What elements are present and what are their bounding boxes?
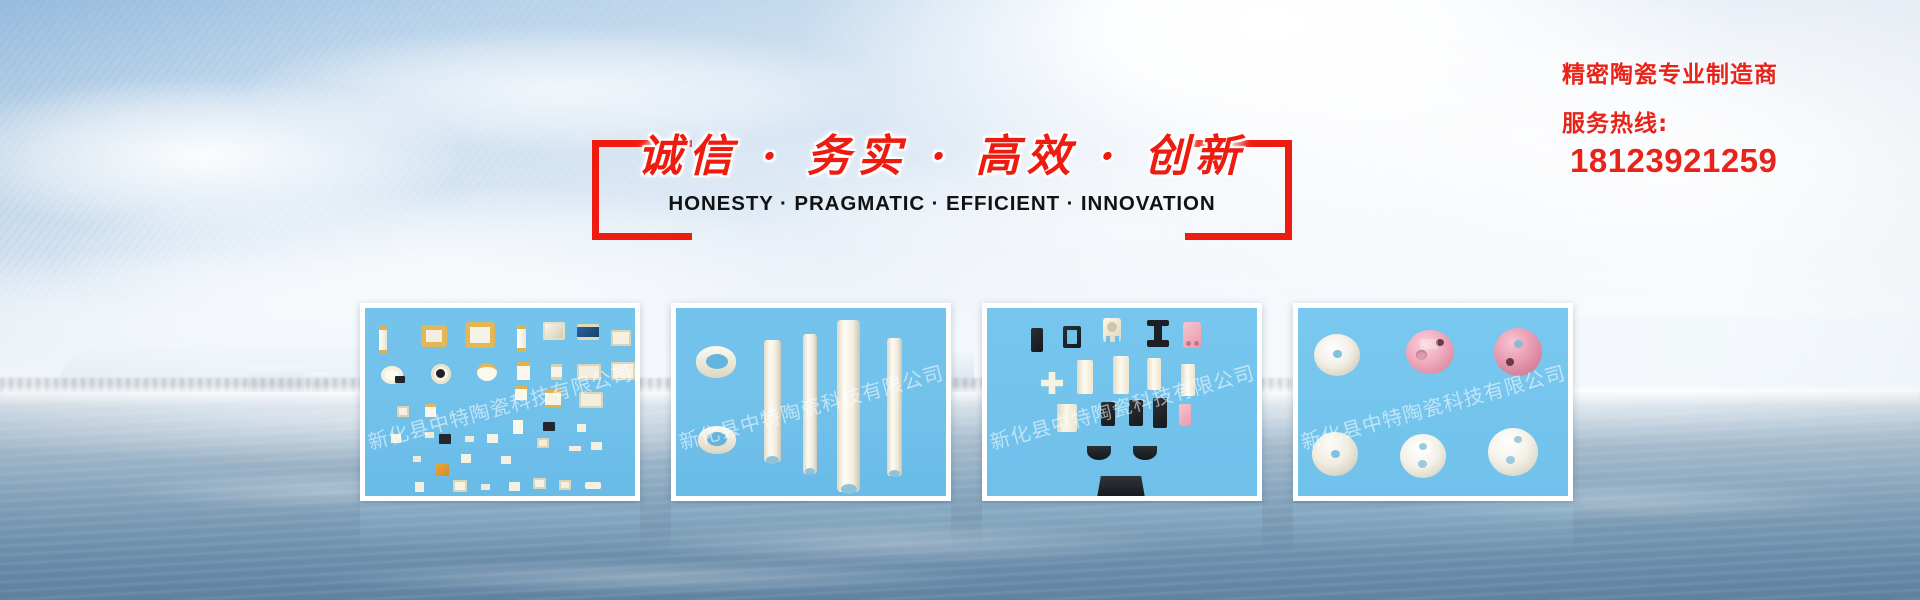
ceramic-part — [611, 330, 631, 346]
company-tagline: 精密陶瓷专业制造商 — [1562, 55, 1902, 89]
disc-hole — [1506, 456, 1515, 464]
ceramic-part — [435, 464, 449, 476]
ceramic-disc — [1488, 428, 1538, 476]
product-photo-3: 新化县中特陶瓷科技有限公司 — [987, 308, 1257, 496]
ceramic-part — [1113, 356, 1129, 394]
hotline-label: 服务热线: — [1562, 104, 1902, 138]
disc-hole — [1514, 436, 1522, 443]
ceramic-part — [461, 454, 471, 463]
part-slot — [1106, 336, 1110, 344]
ceramic-tube — [837, 320, 860, 492]
ceramic-part — [421, 325, 447, 347]
ceramic-part — [509, 482, 520, 491]
slogan-block: 诚信 · 务实 · 高效 · 创新 HONESTY · PRAGMATIC · … — [592, 140, 1292, 240]
product-gallery: 新化县中特陶瓷科技有限公司 新化县中特陶瓷科技有限公司 — [360, 303, 1590, 501]
ceramic-part — [533, 478, 546, 489]
ring-hole — [706, 354, 728, 369]
product-photo-2: 新化县中特陶瓷科技有限公司 — [676, 308, 946, 496]
ceramic-part — [413, 456, 421, 462]
tube-bore — [841, 484, 857, 494]
ceramic-tube — [764, 340, 781, 462]
ceramic-part — [397, 406, 409, 417]
product-panel-3[interactable]: 新化县中特陶瓷科技有限公司 — [982, 303, 1262, 501]
disc-hole — [1514, 340, 1523, 348]
ceramic-part — [569, 446, 581, 451]
ceramic-part — [543, 322, 565, 340]
water-ripple — [300, 560, 1000, 594]
ceramic-part — [477, 363, 497, 381]
ceramic-part — [515, 386, 527, 400]
ceramic-disc — [1494, 328, 1542, 376]
ceramic-part — [577, 424, 586, 432]
ceramic-part — [559, 480, 571, 490]
ceramic-part — [439, 434, 451, 444]
ceramic-block — [1097, 476, 1145, 496]
ceramic-part — [1101, 402, 1115, 426]
ceramic-part — [1147, 358, 1161, 390]
slogan-chinese: 诚信 · 务实 · 高效 · 创新 — [592, 120, 1292, 184]
disc-hole — [1331, 450, 1340, 458]
ceramic-part — [1057, 404, 1077, 432]
ceramic-part — [577, 324, 599, 340]
product-panel-4[interactable]: 新化县中特陶瓷科技有限公司 — [1293, 303, 1573, 501]
contact-block: 精密陶瓷专业制造商 服务热线: 18123921259 — [1562, 55, 1902, 180]
ceramic-part — [1147, 340, 1169, 347]
part-hole — [1186, 341, 1191, 346]
ceramic-part — [415, 482, 424, 492]
ceramic-part — [487, 434, 498, 443]
disc-detail — [1420, 339, 1438, 349]
ceramic-part — [1031, 328, 1043, 352]
ceramic-part — [513, 420, 523, 434]
panel-reflection — [1293, 503, 1573, 555]
ceramic-part — [537, 438, 549, 448]
ceramic-cross — [1041, 372, 1063, 394]
tube-bore — [805, 468, 815, 475]
ceramic-part — [545, 390, 561, 408]
ceramic-part — [543, 422, 555, 431]
part-hole — [1194, 341, 1199, 346]
hero-banner: 诚信 · 务实 · 高效 · 创新 HONESTY · PRAGMATIC · … — [0, 0, 1920, 600]
tube-bore — [889, 470, 900, 477]
ring-hole — [707, 432, 727, 446]
ceramic-part — [501, 456, 511, 464]
product-photo-1: 新化县中特陶瓷科技有限公司 — [365, 308, 635, 496]
product-photo-4: 新化县中特陶瓷科技有限公司 — [1298, 308, 1568, 496]
ceramic-arc — [1087, 446, 1111, 460]
ceramic-part — [1181, 364, 1195, 396]
panel-reflection — [360, 503, 640, 555]
ceramic-part — [585, 482, 601, 489]
ceramic-part — [577, 364, 601, 380]
ceramic-part — [517, 325, 526, 352]
product-panel-1[interactable]: 新化县中特陶瓷科技有限公司 — [360, 303, 640, 501]
disc-hole — [1506, 358, 1514, 366]
ceramic-part — [481, 484, 490, 490]
disc-hole — [1418, 460, 1427, 468]
ceramic-part — [611, 362, 635, 380]
ceramic-tube — [887, 338, 902, 476]
product-panel-2[interactable]: 新化县中特陶瓷科技有限公司 — [671, 303, 951, 501]
disc-hole — [1416, 350, 1427, 360]
bracket-right-icon — [1185, 233, 1285, 240]
panel-reflection — [982, 503, 1262, 555]
hotline-number[interactable]: 18123921259 — [1570, 142, 1902, 180]
ceramic-part — [579, 392, 603, 408]
ceramic-tube — [803, 334, 817, 474]
slogan-english: HONESTY · PRAGMATIC · EFFICIENT · INNOVA… — [592, 192, 1292, 216]
part-hole — [1107, 322, 1117, 332]
disc-hole — [1333, 350, 1342, 358]
ceramic-part — [551, 364, 562, 380]
tube-bore — [766, 456, 779, 464]
ceramic-part — [453, 480, 467, 492]
ceramic-part — [425, 432, 434, 438]
ceramic-disc — [1406, 330, 1454, 374]
disc-hole — [1419, 443, 1427, 450]
ceramic-part — [465, 322, 495, 348]
ceramic-part — [517, 362, 530, 380]
ceramic-arc — [1133, 446, 1157, 460]
part-slot — [1067, 330, 1077, 344]
ceramic-part — [436, 369, 445, 378]
bracket-left-icon — [592, 233, 692, 240]
ceramic-part — [395, 376, 405, 383]
ceramic-part — [391, 434, 401, 443]
ceramic-part — [1179, 404, 1191, 426]
ceramic-part — [425, 404, 436, 417]
ceramic-part — [379, 326, 387, 354]
panel-reflection — [671, 503, 951, 555]
ceramic-part — [1077, 360, 1093, 394]
part-slot — [1115, 336, 1119, 344]
ceramic-part — [591, 442, 602, 450]
ceramic-part — [465, 436, 474, 442]
ceramic-part — [1153, 398, 1167, 428]
ceramic-part — [1129, 400, 1143, 426]
